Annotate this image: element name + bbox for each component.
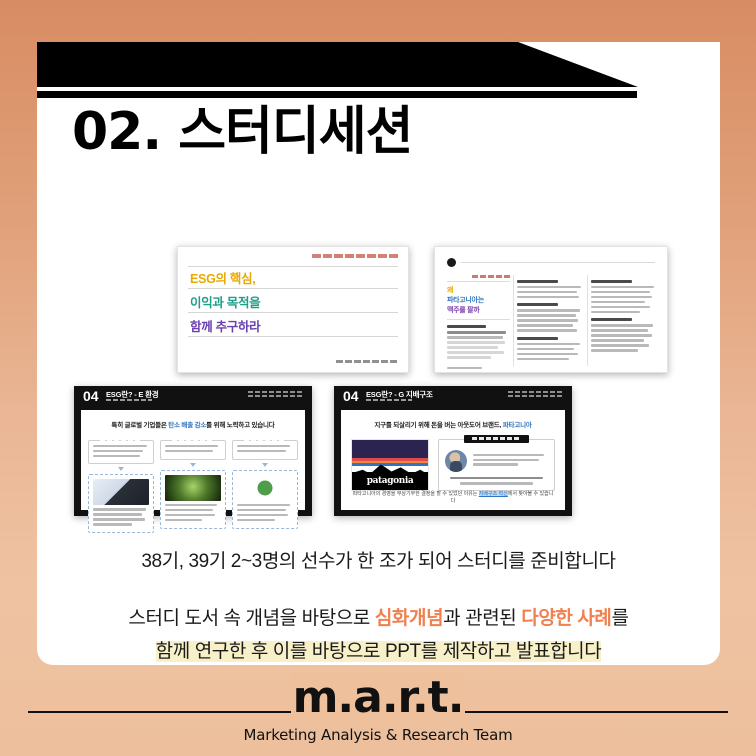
slide2-text-line	[447, 356, 491, 358]
slide-thumbnail-patagonia-beer[interactable]: 왜 파타고니아는 맥주를 팔까	[434, 246, 668, 373]
slide2-text-line	[517, 329, 577, 331]
slide3-header-meta	[248, 391, 304, 399]
slide2-text-line	[517, 286, 581, 288]
slide2-subhead-2	[517, 280, 558, 283]
slide2-text-line	[447, 346, 498, 348]
body-accent-1: 심화개념	[375, 608, 443, 629]
slide2-columns: 왜 파타고니아는 맥주를 팔까	[447, 275, 657, 366]
slide1-header-microtext	[312, 254, 398, 258]
founder-avatar	[445, 450, 467, 472]
slide3-box-2	[160, 440, 226, 460]
slide4-lead-text: 지구를 되살리기 위해 돈을 버는 아웃도어 브랜드, 파타고니아	[341, 419, 565, 429]
slide4-subtitle-microtext	[366, 399, 412, 401]
slide2-top-rule	[461, 262, 655, 263]
slide2-text-line	[517, 353, 577, 355]
slide2-text-line	[517, 314, 575, 316]
footer-subtitle: Marketing Analysis & Research Team	[0, 726, 756, 744]
slide4-quote-lines	[473, 454, 548, 468]
slide4-chip	[464, 435, 528, 443]
slide2-title-line2: 파타고니아는	[447, 296, 510, 306]
slide2-subhead-4	[517, 337, 558, 340]
slide2-text-line	[517, 358, 569, 360]
slide2-text-line	[591, 296, 653, 298]
slide1-title-line2: 이익과 목적을	[190, 292, 260, 311]
slide2-text-line	[517, 309, 580, 311]
mart-logo-text: m.a.r.t.	[291, 672, 466, 723]
slide3-image-1	[93, 479, 149, 505]
body-line-3-wrap: 함께 연구한 후 이를 바탕으로 PPT를 제작하고 발표합니다	[37, 635, 720, 665]
slide2-text-line	[591, 286, 654, 288]
slide2-text-line	[591, 349, 639, 351]
body-line-3: 함께 연구한 후 이를 바탕으로 PPT를 제작하고 발표합니다	[156, 641, 602, 662]
slide4-quote-row	[445, 450, 548, 472]
slide2-text-line	[591, 301, 645, 303]
slide2-subhead-5	[591, 280, 632, 283]
slide2-text-line	[591, 334, 652, 336]
slide3-detail-1	[88, 474, 154, 533]
slide1-title-line1: ESG의 핵심,	[190, 268, 255, 287]
slide3-detail-3	[232, 470, 298, 529]
slide3-box-1	[88, 440, 154, 464]
body-accent-2: 다양한 사례	[521, 608, 611, 629]
body-paragraph: 스터디 도서 속 개념을 바탕으로 심화개념과 관련된 다양한 사례를 함께 연…	[37, 602, 720, 665]
slide4-quote-card	[438, 439, 555, 491]
slide4-bottom-note: 파타고니아의 경영을 무상기부한 결정을 할 수 있었던 이유는 지배구조 혁신…	[351, 490, 555, 504]
footer: m.a.r.t. Marketing Analysis & Research T…	[0, 672, 756, 756]
slide2-rule-a	[447, 281, 510, 282]
slide1-rule-4	[188, 336, 398, 337]
slide3-image-2	[165, 475, 221, 501]
slide4-header: 04 ESG란? - G 지배구조	[334, 386, 572, 408]
body-line-2: 스터디 도서 속 개념을 바탕으로 심화개념과 관련된 다양한 사례를	[37, 602, 720, 635]
slide2-subhead-6	[591, 318, 632, 321]
slide3-subtitle-microtext	[106, 399, 152, 401]
slide3-column-2	[160, 436, 226, 505]
slide-root: ESG의 핵심, 이익과 목적을 함께 추구하라	[0, 0, 756, 756]
page-title: 02. 스터디세션	[72, 103, 412, 163]
slide2-text-line	[591, 311, 641, 313]
slide3-column-3	[232, 436, 298, 505]
slide2-text-line	[517, 291, 577, 293]
slide2-text-line	[447, 351, 504, 353]
slide4-section-number: 04	[343, 389, 359, 403]
patagonia-logo: patagonia	[351, 439, 429, 491]
slide2-text-line	[517, 296, 579, 298]
slide2-footer-line	[447, 367, 482, 369]
slide3-columns	[88, 436, 298, 505]
slide4-quote-footer	[445, 477, 548, 485]
slide-thumbnail-esg-governance[interactable]: 04 ESG란? - G 지배구조 지구를 되살리기 위해 돈을 버는 아웃도어…	[334, 386, 572, 516]
slide1-title-line3: 함께 추구하라	[190, 316, 260, 335]
slide1-inner: ESG의 핵심, 이익과 목적을 함께 추구하라	[188, 254, 398, 365]
body-line-2-part-c: 과 관련된	[443, 608, 521, 629]
slide2-rule-b	[447, 319, 510, 320]
slide2-text-line	[447, 341, 505, 343]
slide2-title-block: 왜 파타고니아는 맥주를 팔까	[447, 286, 510, 316]
body-line-2-part-a: 스터디 도서 속 개념을 바탕으로	[128, 608, 374, 629]
slide2-text-line	[517, 319, 578, 321]
slide1-rule-2	[188, 288, 398, 289]
slide-thumbnail-grid: ESG의 핵심, 이익과 목적을 함께 추구하라	[74, 238, 720, 528]
slide3-lead-text: 특히 글로벌 기업들은 탄소 배출 감소를 위해 노력하고 있습니다	[81, 419, 305, 429]
slide4-main-row: patagonia	[351, 436, 555, 494]
slide2-text-line	[447, 331, 506, 333]
slide3-column-1	[88, 436, 154, 505]
slide2-text-line	[517, 324, 573, 326]
slide3-image-3	[237, 475, 293, 501]
slide2-column-3	[591, 275, 657, 366]
title-banner	[37, 42, 638, 87]
slide2-text-line	[591, 344, 649, 346]
slide-thumbnail-esg-environment[interactable]: 04 ESG란? - E 환경 특히 글로벌 기업들은 탄소 배출 감소를 위해…	[74, 386, 312, 516]
slide2-column-2	[517, 275, 583, 366]
slide3-section-number: 04	[83, 389, 99, 403]
slide4-header-meta	[508, 391, 564, 399]
body-line-1: 38기, 39기 2~3명의 선수가 한 조가 되어 스터디를 준비합니다	[37, 546, 720, 573]
slide2-text-line	[591, 324, 653, 326]
slide3-header: 04 ESG란? - E 환경	[74, 386, 312, 408]
title-banner-wrap	[37, 42, 720, 87]
slide-thumbnail-esg-book-cover[interactable]: ESG의 핵심, 이익과 목적을 함께 추구하라	[177, 246, 409, 373]
body-line-2-part-e: 를	[612, 608, 629, 629]
slide2-subhead-1	[447, 325, 486, 328]
slide2-text-line	[591, 306, 651, 308]
slide1-rule-3	[188, 312, 398, 313]
slide3-body: 특히 글로벌 기업들은 탄소 배출 감소를 위해 노력하고 있습니다	[81, 410, 305, 510]
slide2-text-line	[517, 348, 574, 350]
slide2-title-line1: 왜	[447, 286, 510, 296]
slide2-divider-2	[587, 275, 588, 366]
slide2-text-line	[517, 343, 579, 345]
slide2-text-line	[591, 291, 650, 293]
slide2-title-line3: 맥주를 팔까	[447, 306, 510, 316]
slide2-divider-1	[513, 275, 514, 366]
slide2-text-line	[591, 339, 644, 341]
title-banner-underline	[37, 91, 637, 98]
slide3-arrow-3	[262, 463, 268, 467]
mart-logo: m.a.r.t.	[0, 676, 756, 720]
slide2-text-line	[591, 329, 649, 331]
slide3-arrow-2	[190, 463, 196, 467]
slide2-micro-red	[472, 275, 510, 278]
slide3-detail-2	[160, 470, 226, 529]
slide2-subhead-3	[517, 303, 558, 306]
slide3-arrow-1	[118, 467, 124, 471]
slide4-body: 지구를 되살리기 위해 돈을 버는 아웃도어 브랜드, 파타고니아 patago…	[341, 410, 565, 510]
slide2-column-1: 왜 파타고니아는 맥주를 팔까	[447, 275, 510, 366]
slide2-bullet-dot	[447, 258, 456, 267]
patagonia-wordmark: patagonia	[367, 476, 414, 486]
slide1-footer-microtext	[336, 360, 398, 363]
slide1-rule-1	[188, 266, 398, 267]
slide2-text-line	[447, 336, 503, 338]
slide3-box-3	[232, 440, 298, 460]
